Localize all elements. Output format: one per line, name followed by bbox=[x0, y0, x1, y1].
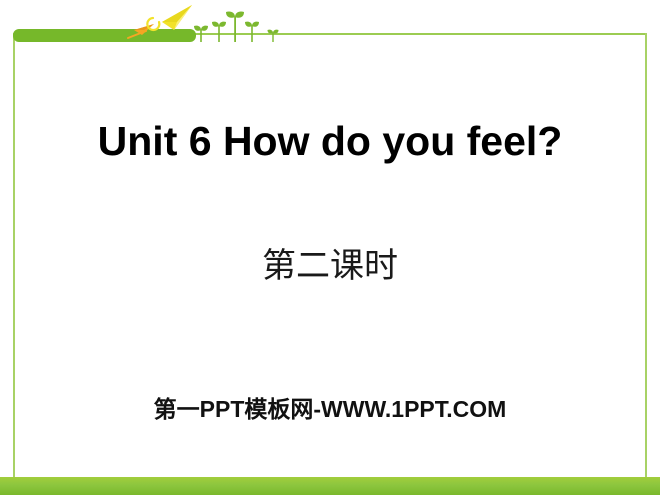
paper-airplane-icon bbox=[122, 0, 194, 40]
sprouts-icon bbox=[193, 8, 283, 44]
watermark-text: 第一PPT模板网-WWW.1PPT.COM bbox=[0, 390, 660, 424]
slide-title: Unit 6 How do you feel? bbox=[0, 118, 660, 165]
slide-subtitle: 第二课时 bbox=[0, 238, 660, 287]
bottom-green-bar bbox=[0, 477, 660, 495]
slide-canvas: Unit 6 How do you feel? 第二课时 第一PPT模板网-WW… bbox=[0, 0, 660, 495]
